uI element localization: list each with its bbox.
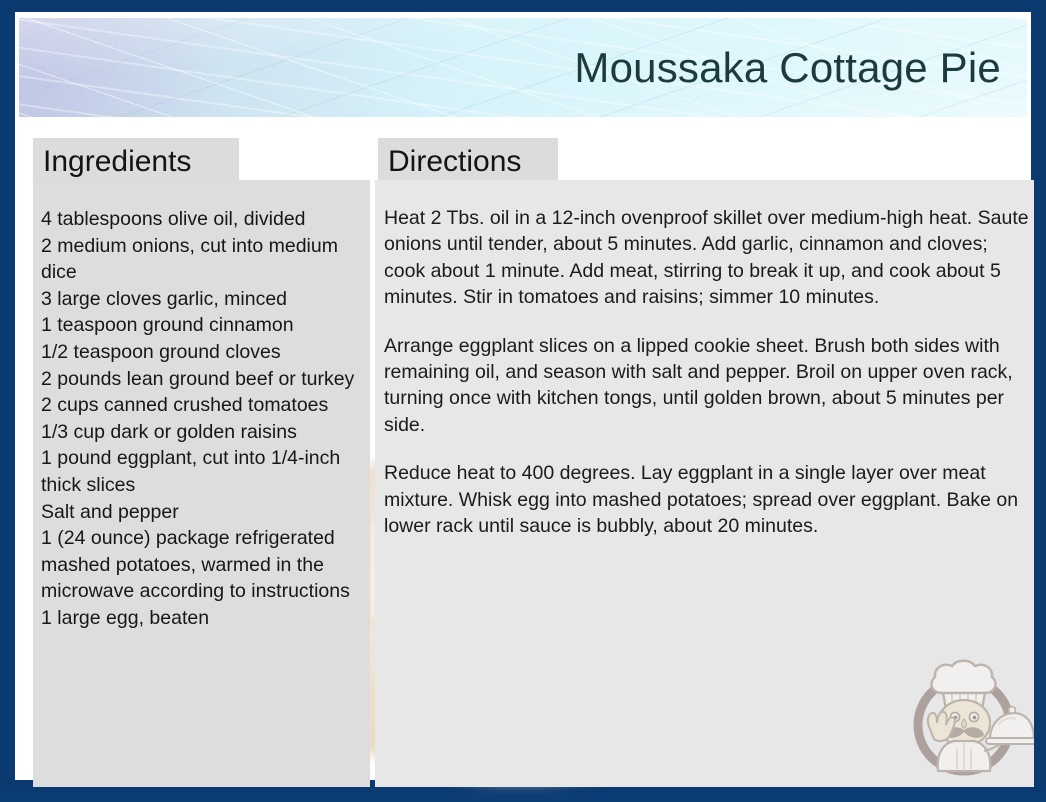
list-item: 2 medium onions, cut into medium dice — [41, 233, 366, 286]
list-item: 1/2 teaspoon ground cloves — [41, 339, 366, 366]
page-frame: Moussaka Cottage Pie — [0, 0, 1046, 792]
list-item: 1/3 cup dark or golden raisins — [41, 419, 366, 446]
recipe-card: Moussaka Cottage Pie — [15, 12, 1031, 780]
list-item: 4 tablespoons olive oil, divided — [41, 206, 366, 233]
list-item: 1 (24 ounce) package refrigerated mashed… — [41, 525, 366, 605]
direction-step: Reduce heat to 400 degrees. Lay eggplant… — [384, 460, 1029, 539]
list-item: Salt and pepper — [41, 499, 366, 526]
ingredients-heading: Ingredients — [33, 138, 239, 183]
list-item: 2 pounds lean ground beef or turkey — [41, 366, 366, 393]
list-item: 1 teaspoon ground cinnamon — [41, 312, 366, 339]
ingredients-list: 4 tablespoons olive oil, divided 2 mediu… — [41, 206, 366, 632]
list-item: 3 large cloves garlic, minced — [41, 286, 366, 313]
page-title: Moussaka Cottage Pie — [574, 42, 1001, 94]
directions-panel: Heat 2 Tbs. oil in a 12-inch ovenproof s… — [375, 180, 1034, 787]
directions-heading: Directions — [378, 138, 558, 183]
direction-step: Arrange eggplant slices on a lipped cook… — [384, 333, 1029, 439]
title-banner: Moussaka Cottage Pie — [19, 18, 1027, 117]
list-item: 2 cups canned crushed tomatoes — [41, 392, 366, 419]
list-item: 1 large egg, beaten — [41, 605, 366, 632]
ingredients-panel: 4 tablespoons olive oil, divided 2 mediu… — [33, 180, 370, 787]
list-item: 1 pound eggplant, cut into 1/4-inch thic… — [41, 445, 366, 498]
direction-step: Heat 2 Tbs. oil in a 12-inch ovenproof s… — [384, 205, 1029, 311]
directions-steps: Heat 2 Tbs. oil in a 12-inch ovenproof s… — [384, 205, 1029, 539]
chef-mascot-logo — [902, 653, 1034, 779]
